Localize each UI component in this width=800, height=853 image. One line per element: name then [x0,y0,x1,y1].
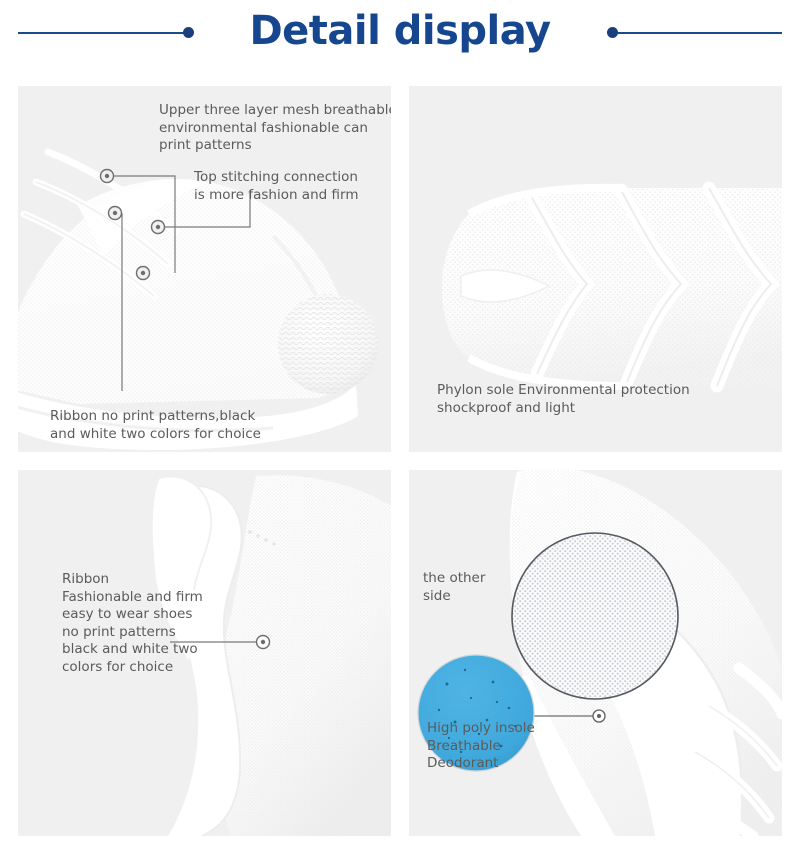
panel-upper-mesh[interactable]: Upper three layer mesh breathable enviro… [18,86,391,452]
page-header: Detail display [0,0,800,78]
decorative-rule-right [614,32,782,34]
phylon-sole-note: Phylon sole Environmental protection sho… [437,382,767,417]
panel-phylon-sole[interactable]: Phylon sole Environmental protection sho… [409,86,782,452]
other-side-note: the other side [423,570,543,605]
ribbon-detail-note: Ribbon Fashionable and firm easy to wear… [62,571,262,676]
panel-high-poly-insole[interactable]: the other side High poly insole Breathab… [409,470,782,836]
high-poly-insole-note: High poly insole Breathable Deodorant [427,720,627,773]
panel-ribbon-collar[interactable]: Ribbon Fashionable and firm easy to wear… [18,470,391,836]
detail-panel-grid: Upper three layer mesh breathable enviro… [18,86,782,836]
top-stitching-note: Top stitching connection is more fashion… [194,169,391,204]
page-title: Detail display [0,8,800,54]
ribbon-note: Ribbon no print patterns,black and white… [50,408,300,443]
sneaker-insole-illustration [409,470,782,836]
upper-mesh-note: Upper three layer mesh breathable enviro… [159,102,391,155]
decorative-dot-right [607,27,618,38]
detail-display-page: Detail display [0,0,800,853]
